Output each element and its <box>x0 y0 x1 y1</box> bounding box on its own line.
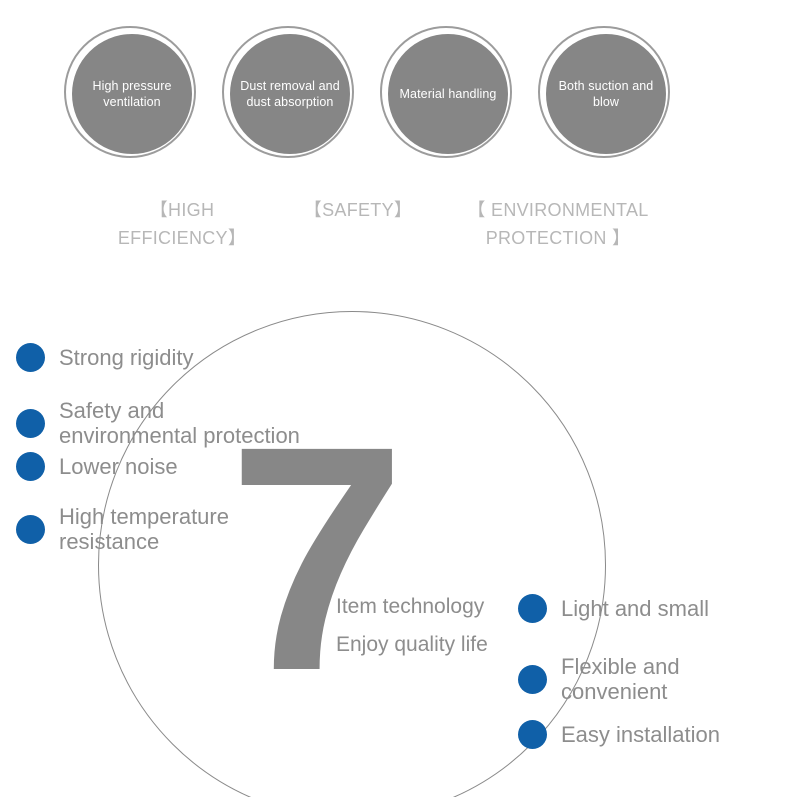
badge-disc: High pressure ventilation <box>72 34 192 154</box>
tagline-line-1: Item technology <box>336 588 488 626</box>
badge-label: High pressure ventilation <box>72 78 192 110</box>
badge-high-pressure-ventilation[interactable]: High pressure ventilation <box>64 26 200 162</box>
badge-label: Both suction and blow <box>546 78 666 110</box>
feature-list-left: Strong rigidity Safety and environmental… <box>16 340 356 550</box>
list-item[interactable]: Flexible and convenient <box>518 654 680 704</box>
feature-label: High temperature resistance <box>59 504 229 554</box>
bullet-dot-icon <box>16 515 45 544</box>
list-item[interactable]: Safety and environmental protection <box>16 398 300 448</box>
bullet-dot-icon <box>518 720 547 749</box>
badge-row: High pressure ventilation Dust removal a… <box>0 0 798 260</box>
bullet-dot-icon <box>16 343 45 372</box>
feature-label: Flexible and convenient <box>561 654 680 704</box>
badge-label: Dust removal and dust absorption <box>230 78 350 110</box>
bullet-dot-icon <box>518 665 547 694</box>
feature-label: Lower noise <box>59 454 178 479</box>
list-item[interactable]: Light and small <box>518 594 709 623</box>
list-item[interactable]: High temperature resistance <box>16 504 229 554</box>
infographic-page: High pressure ventilation Dust removal a… <box>0 0 798 797</box>
badge-label: Material handling <box>390 86 507 102</box>
badge-dust-removal[interactable]: Dust removal and dust absorption <box>222 26 358 162</box>
bullet-dot-icon <box>518 594 547 623</box>
badge-disc: Both suction and blow <box>546 34 666 154</box>
tagline: Item technology Enjoy quality life <box>336 588 488 664</box>
list-item[interactable]: Easy installation <box>518 720 720 749</box>
badge-disc: Material handling <box>388 34 508 154</box>
badge-material-handling[interactable]: Material handling <box>380 26 516 162</box>
badge-caption-environmental-protection: 【 ENVIRONMENTAL PROTECTION 】 <box>450 196 666 252</box>
badge-disc: Dust removal and dust absorption <box>230 34 350 154</box>
feature-label: Easy installation <box>561 722 720 747</box>
bullet-dot-icon <box>16 409 45 438</box>
badge-caption-safety: 【SAFETY】 <box>268 196 448 224</box>
feature-label: Safety and environmental protection <box>59 398 300 448</box>
feature-list-right: Light and small Flexible and convenient … <box>518 590 798 765</box>
tagline-line-2: Enjoy quality life <box>336 626 488 664</box>
badge-both-suction-and-blow[interactable]: Both suction and blow <box>538 26 674 162</box>
feature-label: Strong rigidity <box>59 345 194 370</box>
feature-label: Light and small <box>561 596 709 621</box>
list-item[interactable]: Strong rigidity <box>16 343 194 372</box>
badge-caption-high-efficiency: 【HIGH EFFICIENCY】 <box>92 196 272 252</box>
bullet-dot-icon <box>16 452 45 481</box>
list-item[interactable]: Lower noise <box>16 452 178 481</box>
